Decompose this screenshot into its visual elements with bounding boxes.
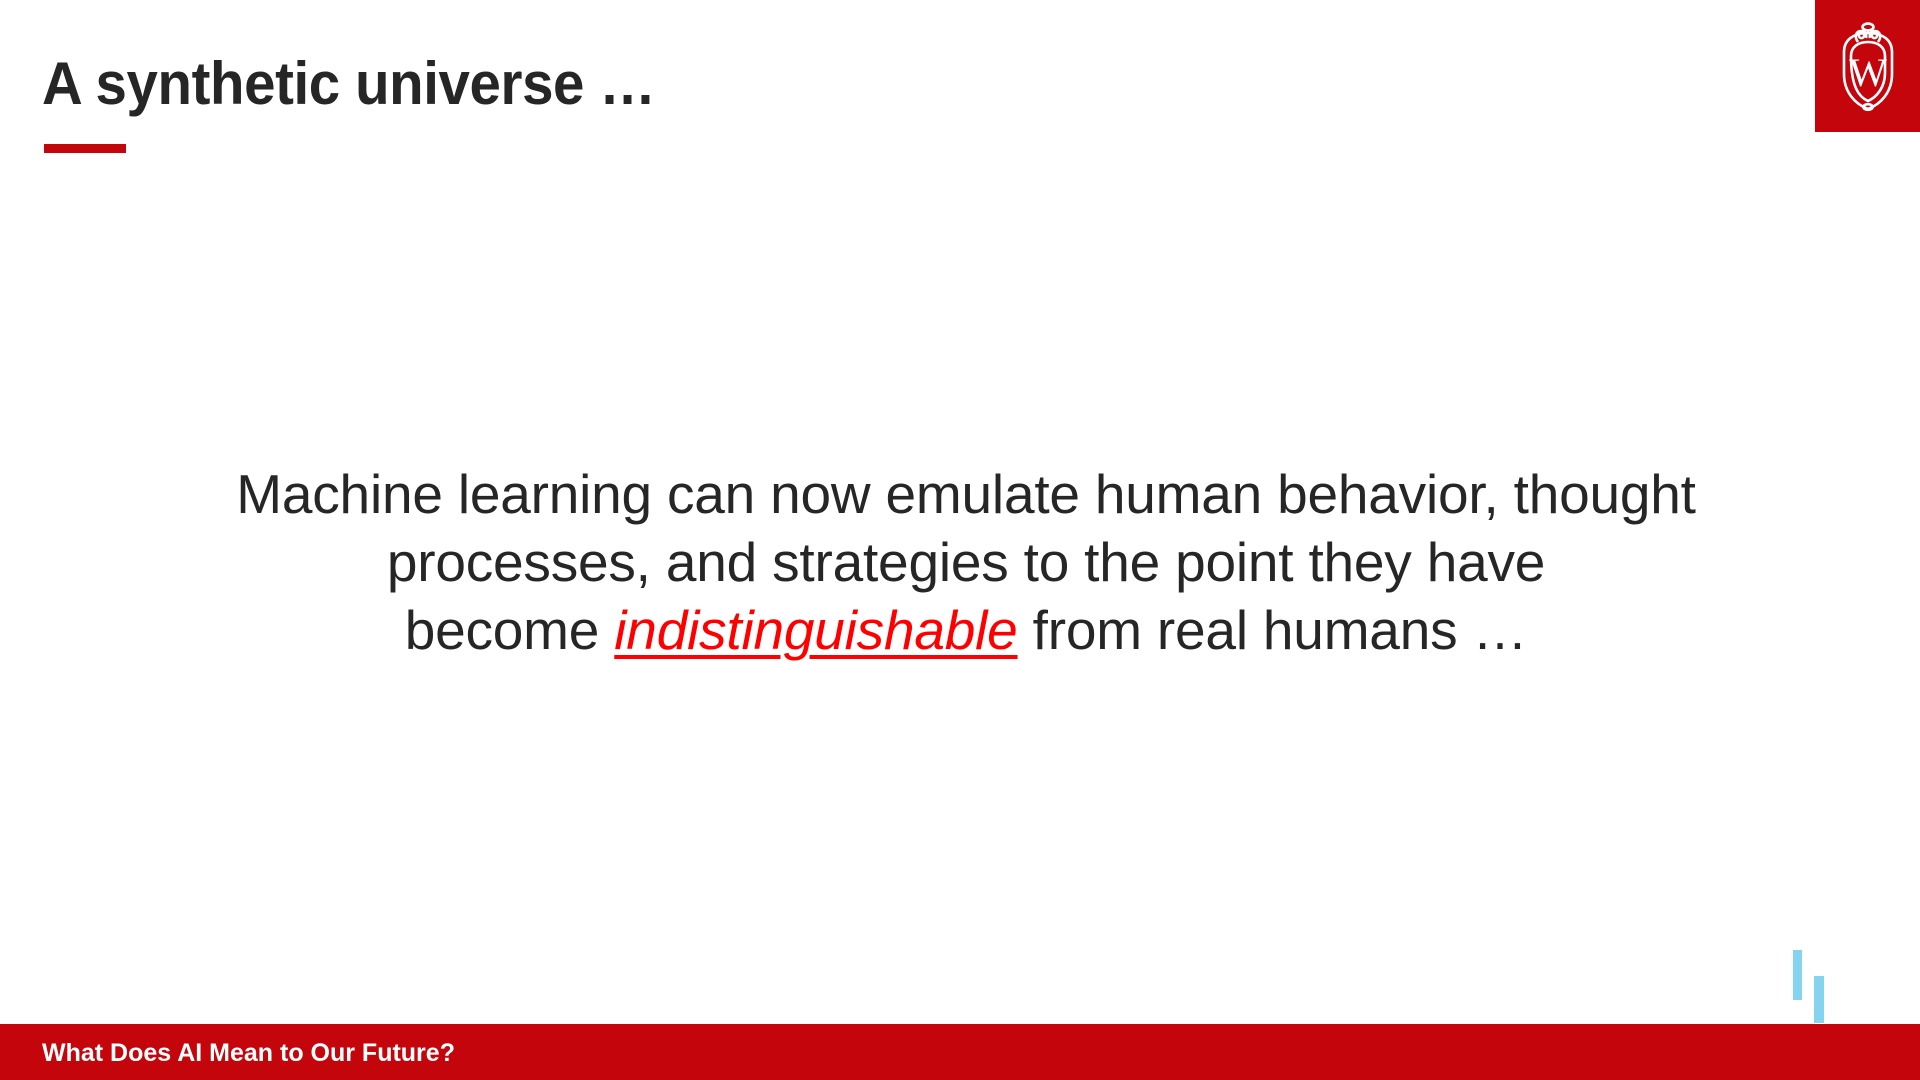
body-line-3-prefix: become xyxy=(405,599,615,661)
svg-text:W: W xyxy=(1849,50,1887,95)
decorative-bar-right xyxy=(1814,976,1824,1023)
body-line-1: Machine learning can now emulate human b… xyxy=(96,460,1836,528)
title-accent-bar xyxy=(44,144,126,153)
body-line-2: processes, and strategies to the point t… xyxy=(96,528,1836,596)
footer-bar: What Does AI Mean to Our Future? xyxy=(0,1024,1920,1080)
title-block: A synthetic universe … xyxy=(42,52,1742,115)
crest-icon: W xyxy=(1832,18,1904,114)
emphasized-word: indistinguishable xyxy=(614,599,1017,661)
presentation-slide: A synthetic universe … W xyxy=(0,0,1920,1080)
body-line-3: become indistinguishable from real human… xyxy=(96,596,1836,664)
page-title: A synthetic universe … xyxy=(42,52,1640,115)
uw-madison-crest-logo: W xyxy=(1815,0,1920,132)
footer-title: What Does AI Mean to Our Future? xyxy=(42,1039,455,1068)
body-paragraph: Machine learning can now emulate human b… xyxy=(96,460,1836,664)
body-line-3-suffix: from real humans … xyxy=(1018,599,1528,661)
decorative-bar-left xyxy=(1793,950,1802,1000)
